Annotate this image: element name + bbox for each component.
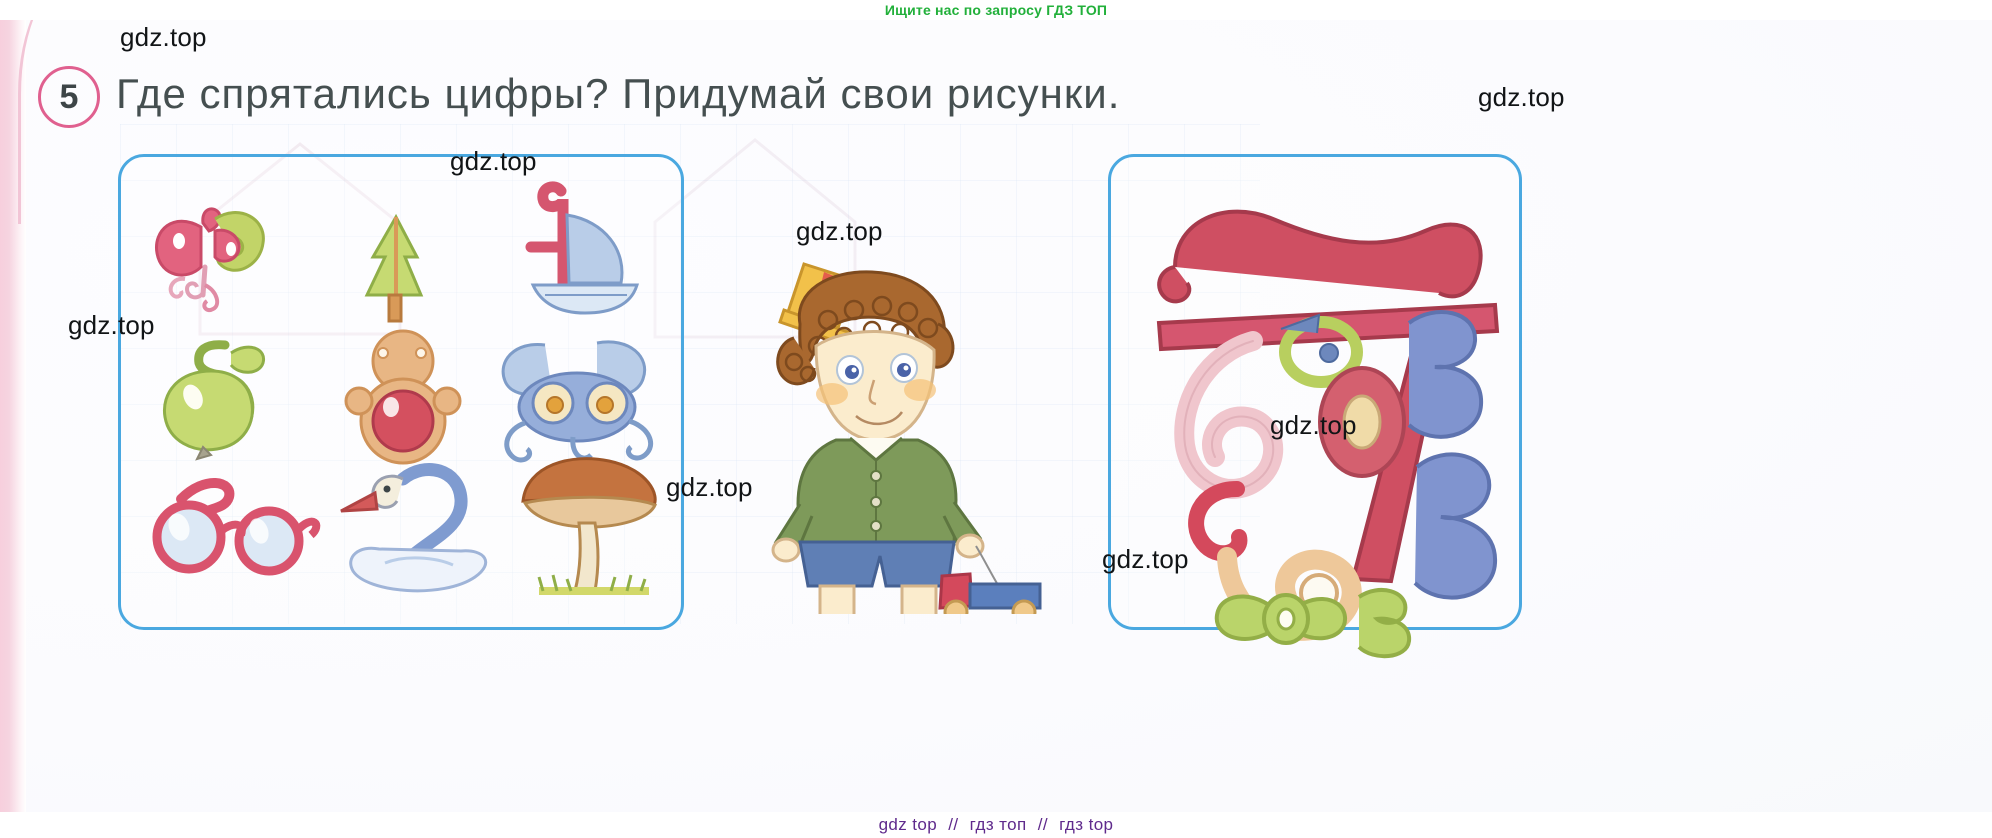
- mushroom-from-digit-illustration: [499, 449, 679, 609]
- footer-link-gdz-top-cyr[interactable]: гдз топ: [970, 815, 1027, 834]
- watermark: gdz.top: [68, 310, 155, 341]
- watermark: gdz.top: [1478, 82, 1565, 113]
- footer-link-gdz-top-mix[interactable]: гдз top: [1059, 815, 1113, 834]
- sailboat-from-digit-illustration: [511, 177, 661, 337]
- promo-banner: Ищите нас по запросу ГДЗ ТОП: [0, 0, 1992, 20]
- watermark: gdz.top: [796, 216, 883, 247]
- watermark: gdz.top: [666, 472, 753, 503]
- footer-separator-1: //: [948, 815, 958, 834]
- promo-banner-text: Ищите нас по запросу ГДЗ ТОП: [885, 2, 1107, 18]
- green-bow-zero-illustration: [1207, 573, 1427, 663]
- toy-truck: [940, 574, 1040, 614]
- fir-tree-from-digit-illustration: [351, 209, 441, 339]
- glasses-from-digit-illustration: [141, 469, 331, 589]
- apple-from-digit-illustration: [145, 337, 295, 467]
- exercise-number-value: 5: [60, 78, 79, 117]
- boy-face: [816, 331, 936, 440]
- footer-link-gdz-top-lat[interactable]: gdz top: [879, 815, 938, 834]
- footer-links: gdz top // гдз топ // гдз top: [0, 812, 1992, 838]
- left-picture-panel: [118, 154, 684, 630]
- boy-shorts-and-legs: [800, 542, 954, 614]
- boy-with-toy-truck-illustration: [742, 254, 1062, 614]
- watermark: gdz.top: [1270, 410, 1357, 441]
- butterfly-from-digits-illustration: [143, 197, 283, 327]
- exercise-number-badge: 5: [38, 66, 100, 128]
- textbook-page-scan: 5 Где спрятались цифры? Придумай свои ри…: [0, 14, 1992, 824]
- exercise-title: Где спрятались цифры? Придумай свои рису…: [116, 70, 1446, 118]
- watermark: gdz.top: [120, 22, 207, 53]
- footer-separator-2: //: [1038, 815, 1048, 834]
- watermark: gdz.top: [1102, 544, 1189, 575]
- watermark: gdz.top: [450, 146, 537, 177]
- swan-from-digit-illustration: [319, 453, 499, 603]
